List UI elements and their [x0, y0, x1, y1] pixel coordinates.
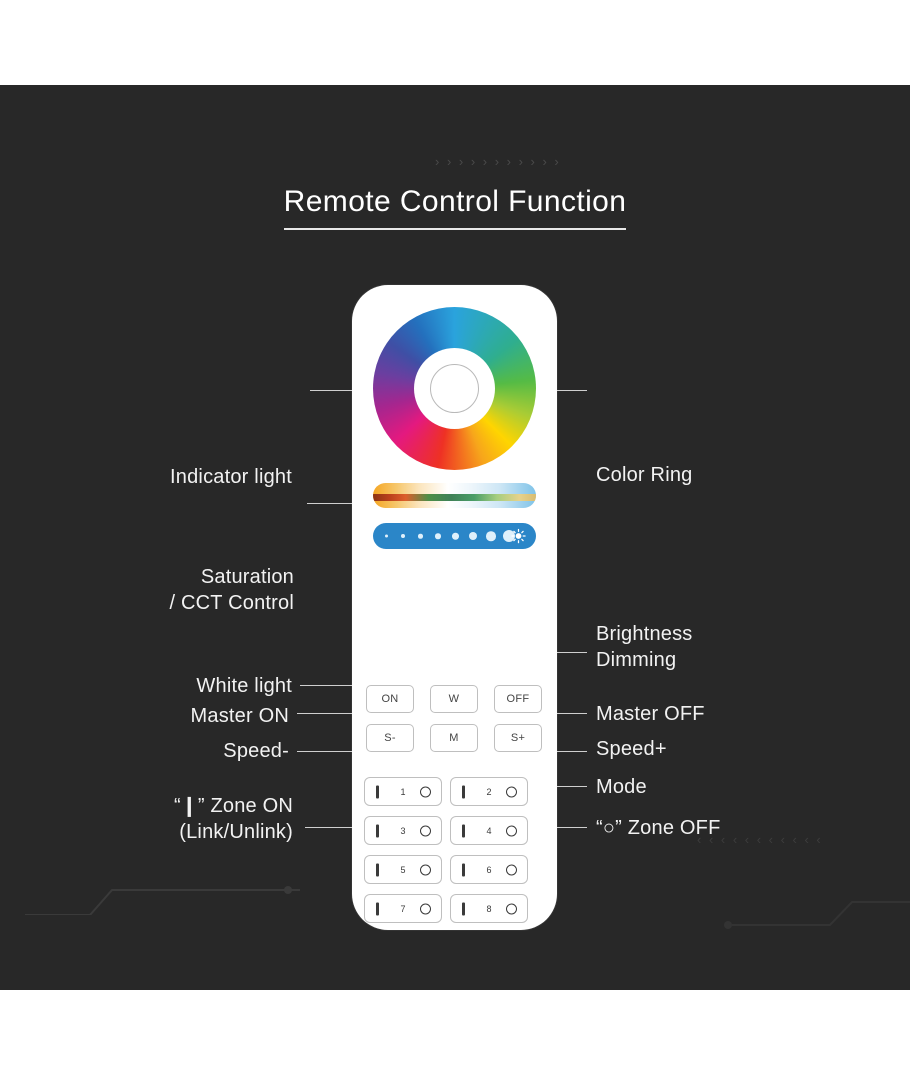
zone-button-3[interactable]: 3	[364, 816, 442, 845]
remote-control-body: ON W OFF S- M S+ 1 2 3 4 5	[352, 285, 557, 930]
white-light-button[interactable]: W	[430, 685, 478, 713]
callout-brightness-dimming: Brightness Dimming	[596, 621, 876, 673]
brightness-dot	[435, 533, 441, 539]
callout-zone-off: “○” Zone OFF	[596, 815, 886, 841]
callout-mode: Mode	[596, 774, 876, 800]
callout-speed-up: Speed+	[596, 736, 876, 762]
zone-button-7[interactable]: 7	[364, 894, 442, 923]
zone-off-circle-icon	[420, 825, 431, 836]
circuit-trace-right	[720, 880, 910, 950]
zone-off-circle-icon	[420, 864, 431, 875]
zone-off-circle-icon	[506, 786, 517, 797]
zone-button-4[interactable]: 4	[450, 816, 528, 845]
callout-master-off: Master OFF	[596, 701, 876, 727]
zone-button-5[interactable]: 5	[364, 855, 442, 884]
master-off-button[interactable]: OFF	[494, 685, 542, 713]
sun-icon	[511, 529, 526, 544]
zone-off-circle-icon	[506, 864, 517, 875]
brightness-dot	[486, 531, 496, 541]
callout-saturation-cct: Saturation / CCT Control	[40, 564, 294, 616]
brightness-dimming-bar[interactable]	[373, 523, 536, 549]
chevron-decoration-top: › › › › › › › › › › ›	[435, 155, 561, 168]
callout-zone-on: “❙” Zone ON (Link/Unlink)	[30, 793, 293, 845]
saturation-cct-bar[interactable]	[373, 483, 536, 508]
brightness-dot	[418, 534, 423, 539]
callout-color-ring: Color Ring	[596, 462, 876, 488]
speed-up-button[interactable]: S+	[494, 724, 542, 752]
color-ring[interactable]	[373, 307, 536, 470]
saturation-cct-stripe	[373, 494, 536, 501]
indicator-light	[430, 364, 479, 413]
circuit-trace-left	[0, 845, 300, 915]
brightness-dot	[401, 534, 405, 538]
zone-button-2[interactable]: 2	[450, 777, 528, 806]
zone-button-6[interactable]: 6	[450, 855, 528, 884]
master-on-button[interactable]: ON	[366, 685, 414, 713]
brightness-dot	[469, 532, 477, 540]
callout-speed-down: Speed-	[40, 738, 289, 764]
brightness-dot	[452, 533, 459, 540]
zone-button-1[interactable]: 1	[364, 777, 442, 806]
callout-white-light: White light	[40, 673, 292, 699]
color-ring-inner-hole	[414, 348, 495, 429]
callout-master-on: Master ON	[40, 703, 289, 729]
page-title-wrapper: Remote Control Function	[0, 185, 910, 230]
brightness-dot	[385, 535, 388, 538]
speed-down-button[interactable]: S-	[366, 724, 414, 752]
zone-off-circle-icon	[420, 903, 431, 914]
zone-button-8[interactable]: 8	[450, 894, 528, 923]
mode-button[interactable]: M	[430, 724, 478, 752]
zone-off-circle-icon	[506, 825, 517, 836]
zone-off-circle-icon	[506, 903, 517, 914]
page-title: Remote Control Function	[284, 185, 627, 230]
dark-panel: › › › › › › › › › › › ‹ ‹ ‹ ‹ ‹ ‹ ‹ ‹ ‹ …	[0, 85, 910, 990]
zone-off-circle-icon	[420, 786, 431, 797]
callout-indicator-light: Indicator light	[40, 464, 292, 490]
